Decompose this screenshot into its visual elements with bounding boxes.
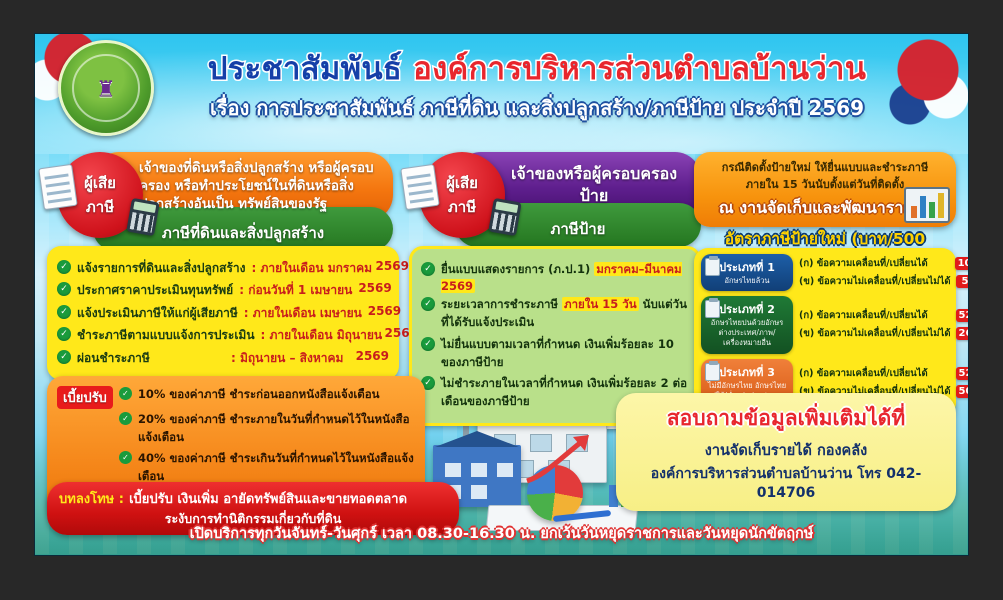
clipboard-icon [705, 363, 720, 381]
sign-taxpayer-badge: ผู้เสีย ภาษี [419, 152, 505, 238]
rate-line-text: (ก) ข้อความเคลื่อนที่/เปลี่ยนได้ [799, 308, 928, 323]
fine-item: 20% ของค่าภาษี ชำระภายในวันที่กำหนดไว้ใน… [138, 411, 415, 447]
table-row: ประเภทที่ 1 อักษรไทยล้วน (ก) ข้อความเคลื… [701, 254, 949, 291]
sign-rule-text: ไม่ยื่นแบบตามเวลาที่กำหนด เงินเพิ่มร้อยล… [441, 336, 689, 372]
calculator-icon [126, 198, 159, 236]
rate-line: (ก) ข้อความเคลื่อนที่/เปลี่ยนได้ 10 [799, 256, 968, 271]
schedule-when: : ภายในเดือน มิถุนายน [261, 326, 379, 345]
schedule-label: แจ้งประเมินภาษีให้แก่ผู้เสียภาษี [77, 304, 238, 323]
municipality-emblem-logo: ♜ [58, 40, 154, 136]
page-title-red: องค์การบริหารส่วนตำบลบ้านว่าน [413, 51, 866, 87]
punishment-label: บทลงโทษ : [59, 492, 124, 507]
rate-line-text: (ก) ข้อความเคลื่อนที่/เปลี่ยนได้ [799, 366, 928, 381]
check-icon: ✓ [57, 260, 71, 274]
table-row: ✓ ผ่อนชำระภาษี : มิถุนายน – สิงหาคม 2569 [57, 349, 389, 368]
sign-rule-text: ยื่นแบบแสดงรายการ (ภ.ป.1) [441, 262, 594, 276]
schedule-year: 2569 [376, 259, 409, 273]
check-icon: ✓ [57, 282, 71, 296]
fine-item: 10% ของค่าภาษี ชำระก่อนออกหนังสือแจ้งเตื… [138, 386, 380, 404]
clipboard-icon [705, 258, 720, 276]
schedule-year: 2569 [355, 349, 389, 363]
schedule-when: : มิถุนายน – สิงหาคม [231, 349, 349, 368]
table-row: ✓ ชำระภาษีตามแบบแจ้งการประเมิน : ภายในเด… [57, 326, 389, 345]
schedule-label: แจ้งรายการที่ดินและสิ่งปลูกสร้าง [77, 259, 246, 278]
list-item: ✓ ระยะเวลาการชำระภาษี ภายใน 15 วัน นับแต… [421, 296, 689, 332]
new-sign-line1: กรณีติดตั้งป้ายใหม่ ให้ยื่นแบบและชำระภาษ… [704, 160, 946, 177]
schedule-year: 2569 [368, 304, 401, 318]
check-icon: ✓ [119, 387, 132, 400]
rate-line: (ก) ข้อความเคลื่อนที่/เปลี่ยนได้ 52 [799, 366, 968, 381]
opening-hours-footer: เปิดบริการทุกวันจันทร์-วันศุกร์ เวลา 08.… [35, 522, 968, 545]
page-title: ประชาสัมพันธ์ องค์การบริหารส่วนตำบลบ้านว… [177, 52, 897, 86]
land-taxpayer-badge: ผู้เสีย ภาษี [57, 152, 143, 238]
rate-value: 52 [956, 367, 968, 380]
land-badge-line1: ผู้เสีย [57, 171, 143, 195]
schedule-label: ผ่อนชำระภาษี [77, 349, 225, 368]
contact-org-phone: องค์การบริหารส่วนตำบลบ้านว่าน โทร 042-01… [628, 463, 944, 501]
list-item: ✓ ไม่ยื่นแบบตามเวลาที่กำหนด เงินเพิ่มร้อ… [421, 336, 689, 372]
rate-category-sub: อักษรไทยปนด้วยอักษรต่างประเทศ/ภาพ/เครื่อ… [705, 318, 789, 348]
rate-line-text: (ข) ข้อความไม่เคลื่อนที่/เปลี่ยนไม่ได้ [799, 326, 951, 341]
penalty-row: ✓ 40% ของค่าภาษี ชำระเกินวันที่กำหนดไว้ใ… [57, 450, 415, 486]
page-subtitle: เรื่อง การประชาสัมพันธ์ ภาษีที่ดิน และสิ… [177, 92, 897, 124]
contact-office: งานจัดเก็บรายได้ กองคลัง [628, 439, 944, 462]
contact-heading: สอบถามข้อมูลเพิ่มเติมได้ที่ [628, 402, 944, 435]
clipboard-icon [705, 300, 720, 318]
emblem-symbol-icon: ♜ [96, 77, 116, 102]
schedule-label: ประกาศราคาประเมินทุนทรัพย์ [77, 281, 233, 300]
schedule-when: : ภายในเดือน มกราคม [252, 259, 370, 278]
penalty-row: ✓ 20% ของค่าภาษี ชำระภายในวันที่กำหนดไว้… [57, 411, 415, 447]
sign-badge-line1: ผู้เสีย [419, 171, 505, 195]
check-icon: ✓ [119, 451, 132, 464]
penalty-row: เบี้ยปรับ ✓ 10% ของค่าภาษี ชำระก่อนออกหน… [57, 386, 415, 409]
land-tax-schedule-card: ✓ แจ้งรายการที่ดินและสิ่งปลูกสร้าง : ภาย… [47, 246, 399, 380]
schedule-when: : ภายในเดือน เมษายน [244, 304, 362, 323]
new-sign-notice-box: กรณีติดตั้งป้ายใหม่ ให้ยื่นแบบและชำระภาษ… [694, 152, 956, 227]
page-title-blue: ประชาสัมพันธ์ [208, 51, 413, 87]
rate-value: 5 [956, 275, 968, 288]
sign-rule-highlight: ภายใน 15 วัน [562, 297, 639, 311]
check-icon: ✓ [57, 327, 71, 341]
rate-line: (ข) ข้อความไม่เคลื่อนที่/เปลี่ยนไม่ได้ 5 [799, 274, 968, 289]
rate-category-1: ประเภทที่ 1 อักษรไทยล้วน [701, 254, 793, 291]
table-row: ✓ แจ้งรายการที่ดินและสิ่งปลูกสร้าง : ภาย… [57, 259, 389, 278]
schedule-year: 2569 [358, 281, 391, 295]
rate-line: (ข) ข้อความไม่เคลื่อนที่/เปลี่ยนไม่ได้ 2… [799, 326, 968, 341]
check-icon: ✓ [421, 337, 435, 351]
rate-line: (ก) ข้อความเคลื่อนที่/เปลี่ยนได้ 52 [799, 308, 968, 323]
list-item: ✓ ยื่นแบบแสดงรายการ (ภ.ป.1) มกราคม–มีนาค… [421, 261, 689, 293]
check-icon: ✓ [119, 412, 132, 425]
table-row: ประเภทที่ 2 อักษรไทยปนด้วยอักษรต่างประเท… [701, 296, 949, 353]
table-row: ✓ ประกาศราคาประเมินทุนทรัพย์ : ก่อนวันที… [57, 281, 389, 300]
check-icon: ✓ [421, 297, 435, 311]
table-row: ✓ แจ้งประเมินภาษีให้แก่ผู้เสียภาษี : ภาย… [57, 304, 389, 323]
rate-value: 26 [956, 327, 968, 340]
rate-value: 50 [956, 385, 968, 398]
fine-tag: เบี้ยปรับ [57, 386, 113, 409]
calculator-icon [488, 198, 521, 236]
screenshot-canvas: ♜ ประชาสัมพันธ์ องค์การบริหารส่วนตำบลบ้า… [0, 0, 1003, 600]
punishment-line1: เบี้ยปรับ เงินเพิ่ม อายัดทรัพย์สินและขาย… [129, 492, 407, 507]
rate-line-text: (ก) ข้อความเคลื่อนที่/เปลี่ยนได้ [799, 256, 928, 271]
fine-item: 40% ของค่าภาษี ชำระเกินวันที่กำหนดไว้ในห… [138, 450, 415, 486]
sign-rate-table: ประเภทที่ 1 อักษรไทยล้วน (ก) ข้อความเคลื… [694, 248, 956, 417]
public-relations-poster: ♜ ประชาสัมพันธ์ องค์การบริหารส่วนตำบลบ้า… [35, 34, 968, 555]
schedule-label: ชำระภาษีตามแบบแจ้งการประเมิน [77, 326, 255, 345]
contact-box: สอบถามข้อมูลเพิ่มเติมได้ที่ งานจัดเก็บรา… [616, 393, 956, 511]
check-icon: ✓ [57, 305, 71, 319]
growth-arrow-icon [523, 433, 593, 485]
schedule-when: : ก่อนวันที่ 1 เมษายน [239, 281, 352, 300]
rate-value: 52 [956, 309, 968, 322]
rate-category-2: ประเภทที่ 2 อักษรไทยปนด้วยอักษรต่างประเท… [701, 296, 793, 353]
rate-line-text: (ข) ข้อความไม่เคลื่อนที่/เปลี่ยนไม่ได้ [799, 274, 951, 289]
check-icon: ✓ [421, 262, 435, 276]
check-icon: ✓ [57, 350, 71, 364]
bar-chart-monitor-icon [904, 187, 950, 223]
rate-value: 10 [955, 257, 968, 270]
rate-category-sub: อักษรไทยล้วน [705, 276, 789, 286]
sign-rule-text: ระยะเวลาการชำระภาษี [441, 297, 562, 311]
